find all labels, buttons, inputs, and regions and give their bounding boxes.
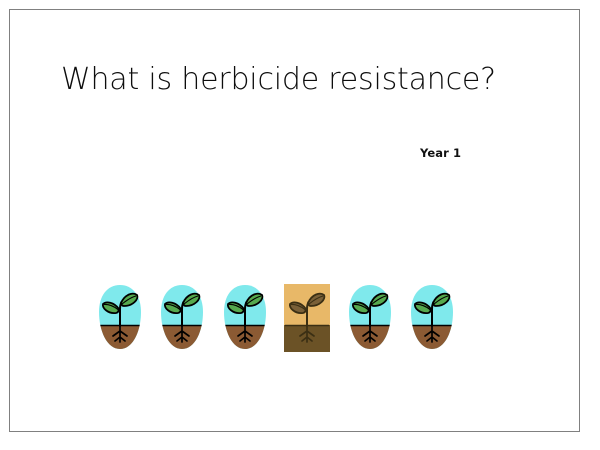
slide-canvas: What is herbicide resistance? Year 1 [0,0,600,450]
plant-5 [344,281,396,355]
plant-6 [406,281,458,355]
year-label: Year 1 [420,146,461,160]
plant-4-treated [281,281,333,355]
plant-3 [219,281,271,355]
plant-2 [156,281,208,355]
plant-1 [94,281,146,355]
page-title: What is herbicide resistance? [61,62,531,98]
plant-illustration-row [94,281,464,357]
